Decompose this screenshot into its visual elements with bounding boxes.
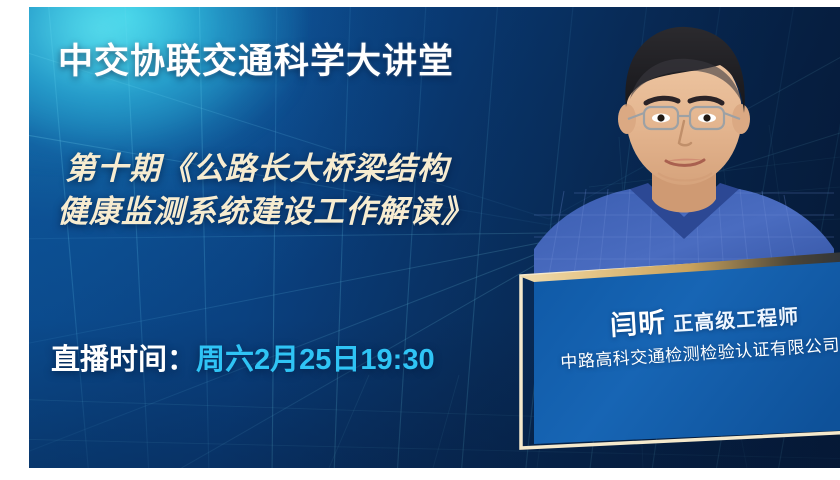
speaker-title: 正高级工程师: [673, 306, 800, 336]
live-time-label: 直播时间：: [51, 344, 196, 376]
live-time-row: 直播时间：周六2月25日19:30: [51, 336, 435, 378]
subtitle-line-2: 健康监测系统建设工作解读》: [65, 190, 585, 233]
poster-artwork: 中交协联交通科学大讲堂 第十期《公路长大桥梁结构 健康监测系统建设工作解读》 直…: [29, 7, 840, 468]
poster-frame: 中交协联交通科学大讲堂 第十期《公路长大桥梁结构 健康监测系统建设工作解读》 直…: [0, 0, 840, 480]
subtitle-line-1: 第十期《公路长大桥梁结构: [65, 147, 585, 190]
speaker-name: 闫昕: [609, 307, 667, 340]
speaker-info-card: 闫昕正高级工程师 中路高科交通检测检验认证有限公司: [479, 252, 840, 452]
live-time-value: 周六2月25日19:30: [196, 344, 435, 376]
poster-subtitle: 第十期《公路长大桥梁结构 健康监测系统建设工作解读》: [65, 147, 585, 234]
poster-headline: 中交协联交通科学大讲堂: [58, 33, 454, 84]
